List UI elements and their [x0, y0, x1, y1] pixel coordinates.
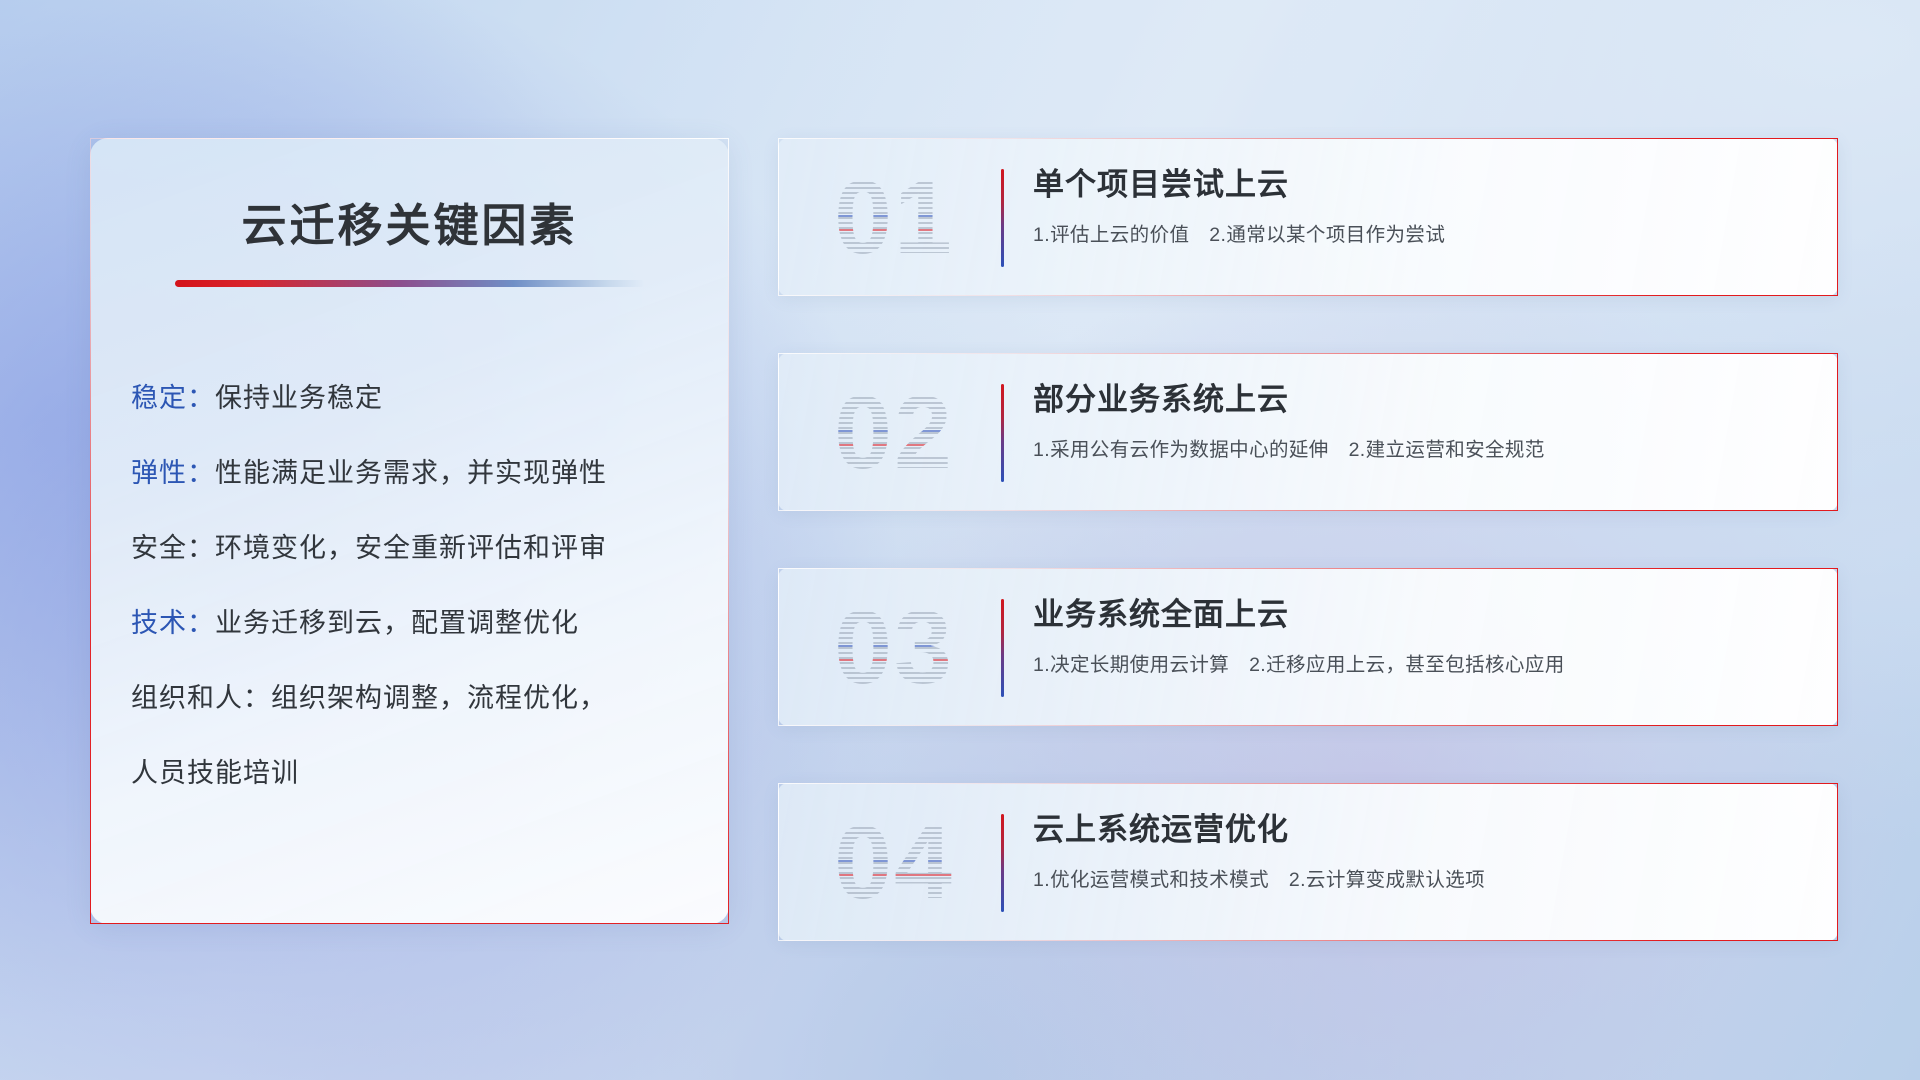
factor-key: 组织和人：	[131, 683, 271, 713]
factor-key: 安全：	[131, 533, 215, 563]
list-item: 弹性：性能满足业务需求，并实现弹性	[131, 436, 728, 511]
list-item: 组织和人：组织架构调整，流程优化，	[131, 661, 728, 736]
factor-key: 稳定：	[131, 383, 215, 413]
factor-key: 技术：	[131, 608, 215, 638]
factor-key: 弹性：	[131, 458, 215, 488]
step-divider-bar	[1001, 384, 1004, 482]
step-number: 04	[809, 802, 979, 924]
step-title: 单个项目尝试上云	[1033, 161, 1811, 209]
step-title: 部分业务系统上云	[1033, 376, 1811, 424]
factor-text: 保持业务稳定	[215, 383, 383, 413]
step-subtitle: 1.评估上云的价值 2.通常以某个项目作为尝试	[1033, 215, 1811, 255]
step-divider-bar	[1001, 169, 1004, 267]
key-factors-list: 稳定：保持业务稳定 弹性：性能满足业务需求，并实现弹性 安全：环境变化，安全重新…	[91, 361, 728, 811]
key-factors-panel: 云迁移关键因素 稳定：保持业务稳定 弹性：性能满足业务需求，并实现弹性 安全：环…	[90, 138, 729, 924]
step-card-02[interactable]: 02 02 部分业务系统上云 1.采用公有云作为数据中心的延伸 2.建立运营和安…	[778, 353, 1838, 511]
migration-steps-list: 01 01 单个项目尝试上云 1.评估上云的价值 2.通常以某个项目作为尝试 0…	[778, 138, 1838, 941]
step-card-01[interactable]: 01 01 单个项目尝试上云 1.评估上云的价值 2.通常以某个项目作为尝试	[778, 138, 1838, 296]
step-card-03[interactable]: 03 03 业务系统全面上云 1.决定长期使用云计算 2.迁移应用上云，甚至包括…	[778, 568, 1838, 726]
step-divider-bar	[1001, 814, 1004, 912]
list-item: 技术：业务迁移到云，配置调整优化	[131, 586, 728, 661]
list-item: 人员技能培训	[131, 736, 728, 811]
page-title: 云迁移关键因素	[91, 189, 728, 254]
list-item: 安全：环境变化，安全重新评估和评审	[131, 511, 728, 586]
factor-text: 环境变化，安全重新评估和评审	[215, 533, 607, 563]
step-subtitle: 1.采用公有云作为数据中心的延伸 2.建立运营和安全规范	[1033, 430, 1811, 470]
step-number: 02	[809, 372, 979, 494]
step-divider-bar	[1001, 599, 1004, 697]
factor-text: 业务迁移到云，配置调整优化	[215, 608, 579, 638]
list-item: 稳定：保持业务稳定	[131, 361, 728, 436]
step-card-04[interactable]: 04 04 云上系统运营优化 1.优化运营模式和技术模式 2.云计算变成默认选项	[778, 783, 1838, 941]
step-title: 云上系统运营优化	[1033, 806, 1811, 854]
factor-text: 人员技能培训	[131, 758, 299, 788]
step-number: 01	[809, 157, 979, 279]
title-underline-accent	[175, 280, 645, 287]
step-subtitle: 1.优化运营模式和技术模式 2.云计算变成默认选项	[1033, 860, 1811, 900]
step-title: 业务系统全面上云	[1033, 591, 1811, 639]
factor-text: 组织架构调整，流程优化，	[271, 683, 607, 713]
step-number: 03	[809, 587, 979, 709]
step-subtitle: 1.决定长期使用云计算 2.迁移应用上云，甚至包括核心应用	[1033, 645, 1811, 685]
factor-text: 性能满足业务需求，并实现弹性	[215, 458, 607, 488]
